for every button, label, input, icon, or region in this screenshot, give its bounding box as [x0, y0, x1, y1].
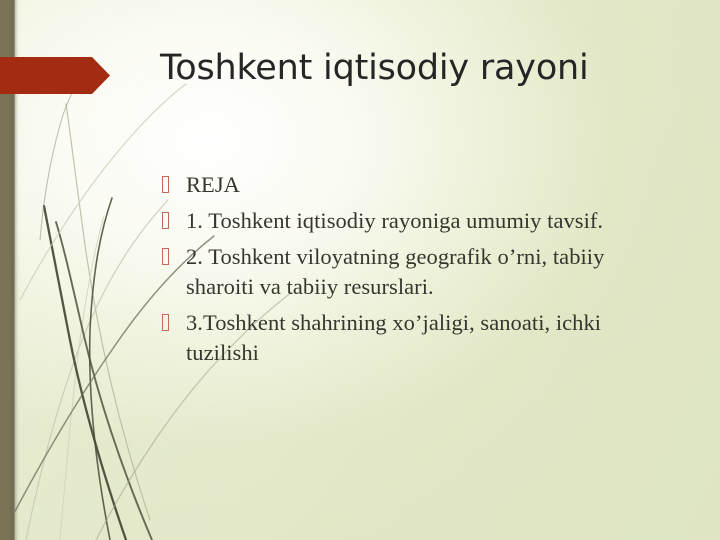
list-item-label: REJA	[186, 170, 670, 200]
tofu-box-bullet-icon	[160, 170, 186, 200]
list-item: 2. Toshkent viloyatning geografik o’rni,…	[160, 242, 670, 302]
arrow-polygon	[0, 57, 110, 94]
tofu-box-bullet-icon	[160, 308, 186, 338]
list-item-label: 2. Toshkent viloyatning geografik o’rni,…	[186, 242, 670, 302]
list-item: 3.Toshkent shahrining xo’jaligi, sanoati…	[160, 308, 670, 368]
grass-stem-dark-1	[44, 206, 126, 540]
tofu-box-bullet-icon	[160, 242, 186, 272]
bullet-list: REJA 1. Toshkent iqtisodiy rayoniga umum…	[160, 170, 670, 374]
tofu-box-bullet-icon	[160, 206, 186, 236]
list-item-label: 3.Toshkent shahrining xo’jaligi, sanoati…	[186, 308, 670, 368]
page-title: Toshkent iqtisodiy rayoni	[160, 48, 680, 88]
list-item-label: 1. Toshkent iqtisodiy rayoniga umumiy ta…	[186, 206, 670, 236]
grass-stem-dark-2	[56, 222, 152, 540]
banner-arrow-shape	[0, 57, 110, 94]
list-item: 1. Toshkent iqtisodiy rayoniga umumiy ta…	[160, 206, 670, 236]
list-item: REJA	[160, 170, 670, 200]
slide-canvas: Toshkent iqtisodiy rayoni REJA 1. Toshke…	[0, 0, 720, 540]
